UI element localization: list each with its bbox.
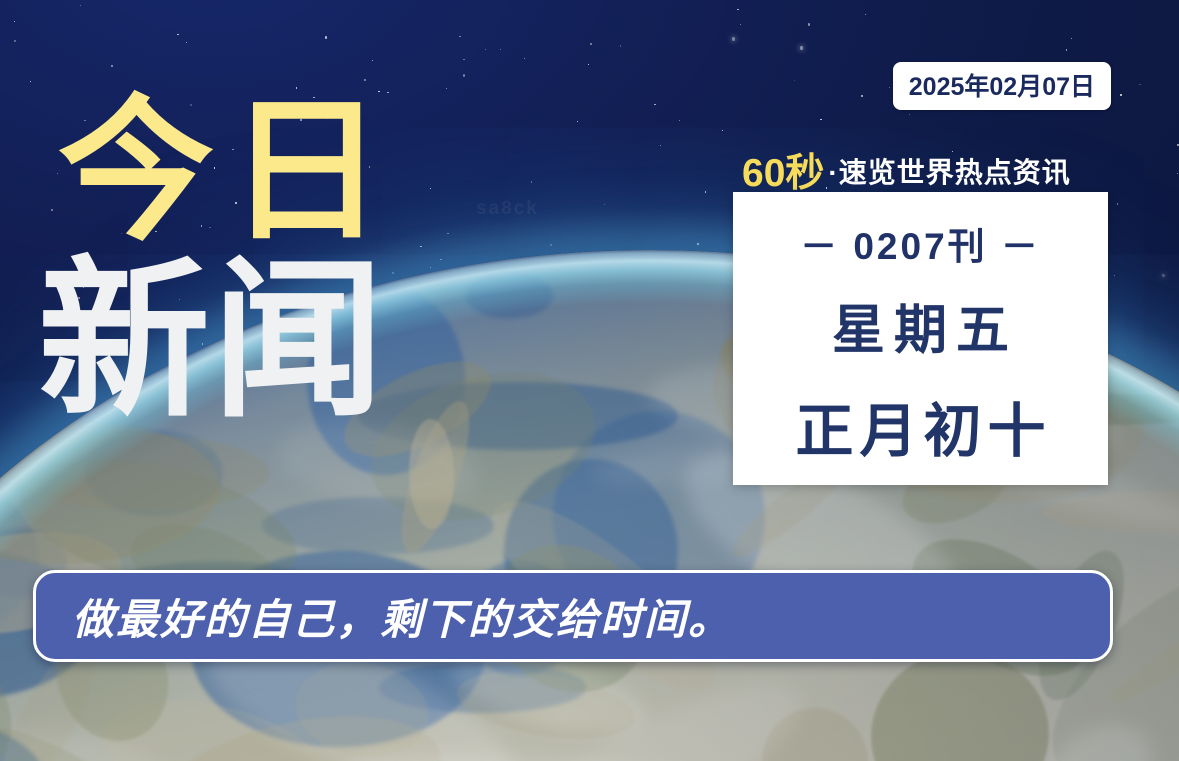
card-lunar-date: 正月初十	[789, 384, 1051, 468]
news-poster: sa8ck 今日 新闻 2025年02月07日 60秒·速览世界热点资讯 － 0…	[0, 0, 1179, 761]
date-badge: 2025年02月07日	[893, 62, 1111, 110]
date-info-card: － 0207刊 － 星期五 正月初十	[733, 192, 1108, 485]
page-title: 今日 新闻	[52, 96, 398, 425]
card-issue-number: － 0207刊 －	[800, 216, 1041, 270]
quote-text: 做最好的自己，剩下的交给时间。	[72, 586, 732, 647]
tagline: 60秒·速览世界热点资讯	[742, 142, 1071, 198]
tagline-description: ·速览世界热点资讯	[828, 157, 1070, 188]
title-line-news: 新闻	[38, 257, 398, 426]
tagline-seconds: 60秒	[742, 152, 824, 195]
watermark-text: sa8ck	[476, 198, 539, 220]
card-weekday: 星期五	[823, 288, 1018, 364]
title-line-today: 今日	[58, 96, 398, 249]
quote-banner: 做最好的自己，剩下的交给时间。	[33, 570, 1113, 662]
